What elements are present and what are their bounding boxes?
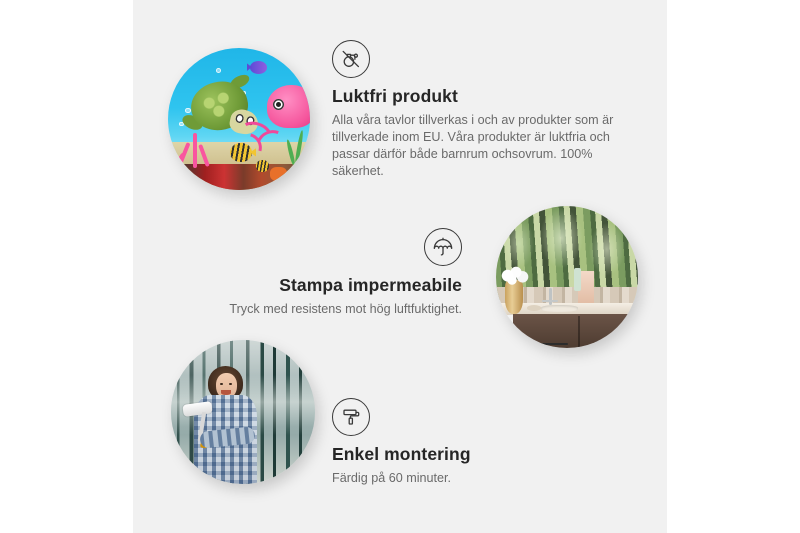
cabinet-door-handle xyxy=(596,341,600,346)
coral xyxy=(177,133,214,173)
photo-bathroom-vanity xyxy=(496,206,638,348)
feature-body: Färdig på 60 minuter. xyxy=(332,470,612,487)
feature-heading: Stampa impermeabile xyxy=(200,275,462,296)
paint-roller-icon xyxy=(332,398,370,436)
bubble-icon xyxy=(185,108,191,114)
faucet xyxy=(549,288,553,305)
starfish xyxy=(270,167,287,181)
small-yellow-fish xyxy=(256,160,269,171)
feature-heading: Enkel montering xyxy=(332,444,612,465)
feature-heading: Luktfri produkt xyxy=(332,86,632,107)
wood-cabinet xyxy=(513,314,638,348)
painter-scene xyxy=(171,340,315,484)
promo-panel-screenshot: Luktfri produkt Alla våra tavlor tillver… xyxy=(0,0,800,533)
feature-odour-free: Luktfri produkt Alla våra tavlor tillver… xyxy=(332,40,632,180)
photo-ocean-mural xyxy=(168,48,310,190)
yellow-striped-fish xyxy=(230,143,251,161)
feature-waterproof: Stampa impermeabile Tryck med resistens … xyxy=(200,228,462,318)
purple-fish xyxy=(250,61,267,74)
no-scent-perfume-bottle-icon xyxy=(332,40,370,78)
photo-painter-forest xyxy=(171,340,315,484)
cabinet-drawer-handle xyxy=(536,343,568,344)
feature-body: Tryck med resistens mot hög luftfuktighe… xyxy=(200,301,462,318)
white-flowers xyxy=(499,263,530,286)
bathroom-scene xyxy=(496,206,638,348)
feature-body: Alla våra tavlor tillverkas i och av pro… xyxy=(332,112,632,180)
feature-easy-assembly: Enkel montering Färdig på 60 minuter. xyxy=(332,398,612,487)
umbrella-icon xyxy=(424,228,462,266)
soap-bottle xyxy=(574,268,581,291)
ocean-scene xyxy=(168,48,310,190)
